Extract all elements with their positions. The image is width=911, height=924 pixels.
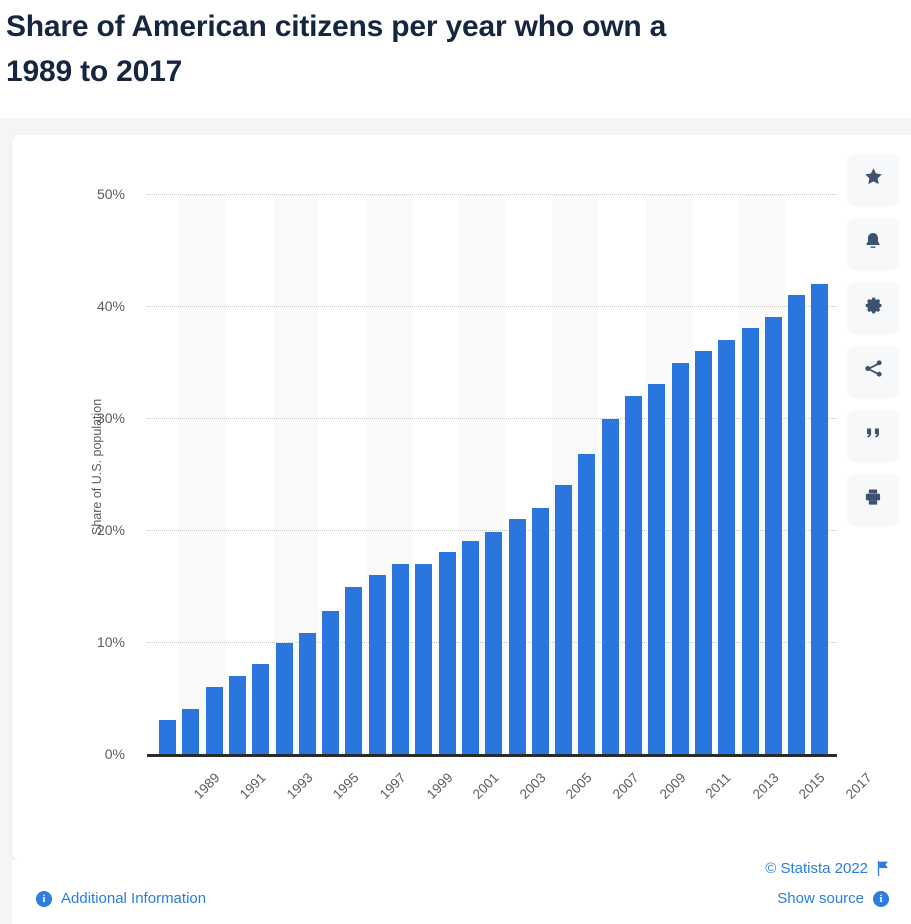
bar[interactable] — [555, 485, 572, 754]
additional-information-label: Additional Information — [61, 890, 206, 907]
bar[interactable] — [252, 664, 269, 754]
copyright: © Statista 2022 — [765, 860, 889, 877]
favorite-button[interactable] — [849, 155, 897, 203]
bar[interactable] — [485, 532, 502, 754]
favorite-icon — [863, 166, 884, 192]
x-axis-tick-label: 1995 — [330, 770, 362, 802]
x-axis-tick-label: 2007 — [610, 770, 642, 802]
flag-icon[interactable] — [876, 861, 889, 876]
x-axis-tick-label: 2013 — [749, 770, 781, 802]
cite-button[interactable] — [849, 411, 897, 459]
bar[interactable] — [229, 676, 246, 754]
notify-button[interactable] — [849, 219, 897, 267]
bar[interactable] — [811, 284, 828, 754]
bar[interactable] — [672, 363, 689, 754]
bar[interactable] — [742, 328, 759, 754]
bar[interactable] — [276, 643, 293, 754]
bar[interactable] — [765, 317, 782, 754]
bar[interactable] — [695, 351, 712, 754]
bar[interactable] — [718, 340, 735, 754]
x-axis-tick-label: 2015 — [796, 770, 828, 802]
bar[interactable] — [322, 611, 339, 754]
x-axis-tick-label: 2003 — [516, 770, 548, 802]
page-title-line-2: 1989 to 2017 — [6, 49, 911, 94]
bar[interactable] — [392, 564, 409, 754]
bar[interactable] — [415, 564, 432, 754]
bar[interactable] — [345, 587, 362, 754]
settings-button[interactable] — [849, 283, 897, 331]
x-axis-tick-label: 2017 — [843, 770, 875, 802]
chart-card: Share of U.S. population 0%10%20%30%40%5… — [12, 135, 911, 860]
copyright-text: © Statista 2022 — [765, 860, 868, 877]
x-axis-tick-label: 1993 — [283, 770, 315, 802]
chart-footer: © Statista 2022 i Additional Information… — [12, 860, 911, 924]
bell-icon — [863, 230, 883, 256]
bar[interactable] — [648, 384, 665, 754]
x-axis-tick-label: 1991 — [237, 770, 269, 802]
print-icon — [863, 487, 883, 512]
title-block: Share of American citizens per year who … — [0, 0, 911, 118]
x-axis-tick-label: 1997 — [377, 770, 409, 802]
bar[interactable] — [602, 419, 619, 754]
bar[interactable] — [532, 508, 549, 754]
share-button[interactable] — [849, 347, 897, 395]
y-axis-tick-label: 30% — [97, 410, 125, 426]
bar[interactable] — [788, 295, 805, 754]
x-axis-tick-label: 2005 — [563, 770, 595, 802]
show-source-link[interactable]: Show source i — [777, 890, 889, 907]
info-icon: i — [36, 891, 52, 907]
bar[interactable] — [299, 633, 316, 754]
bar[interactable] — [182, 709, 199, 754]
x-axis-tick-label: 2009 — [656, 770, 688, 802]
bar[interactable] — [462, 541, 479, 754]
page-title: Share of American citizens per year who … — [6, 4, 911, 94]
quote-icon — [863, 424, 883, 447]
print-button[interactable] — [849, 475, 897, 523]
y-axis-tick-label: 40% — [97, 298, 125, 314]
bar[interactable] — [439, 552, 456, 754]
bar[interactable] — [509, 519, 526, 754]
info-icon: i — [873, 891, 889, 907]
y-axis-tick-label: 20% — [97, 522, 125, 538]
bar[interactable] — [625, 396, 642, 754]
bar[interactable] — [159, 720, 176, 754]
bar[interactable] — [578, 454, 595, 754]
x-axis-line — [147, 754, 837, 757]
bar-series — [147, 194, 837, 754]
y-axis-tick-label: 10% — [97, 634, 125, 650]
plot-area: 0%10%20%30%40%50% 1989199119931995199719… — [147, 194, 837, 754]
bar[interactable] — [206, 687, 223, 754]
x-axis-tick-label: 2011 — [703, 770, 734, 801]
x-axis-tick-label: 1989 — [190, 770, 222, 802]
x-axis-tick-label: 1999 — [423, 770, 455, 802]
bar[interactable] — [369, 575, 386, 754]
page-title-line-1: Share of American citizens per year who … — [6, 10, 666, 43]
additional-information-link[interactable]: i Additional Information — [36, 890, 206, 907]
show-source-label: Show source — [777, 890, 864, 907]
y-axis-tick-label: 0% — [105, 746, 125, 762]
action-toolbar — [849, 155, 897, 523]
gear-icon — [863, 294, 884, 320]
share-icon — [863, 358, 884, 384]
y-axis-tick-label: 50% — [97, 186, 125, 202]
x-axis-tick-label: 2001 — [470, 770, 502, 802]
